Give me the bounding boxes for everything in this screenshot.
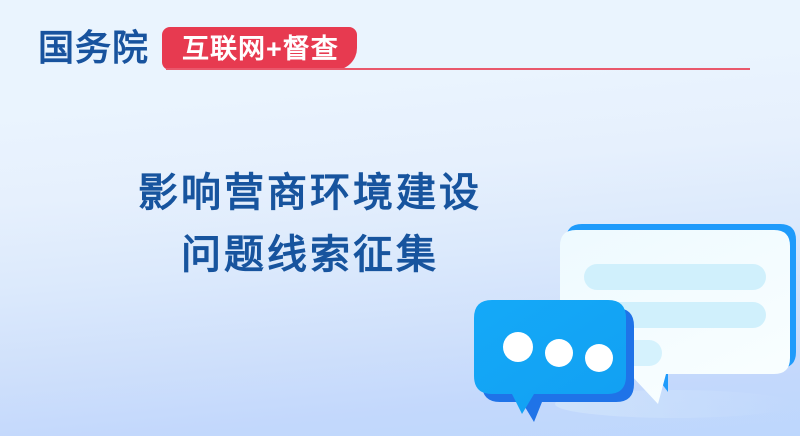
banner-header: 国务院 互联网+督查 bbox=[0, 0, 800, 90]
campaign-badge-label: 互联网+督查 bbox=[182, 34, 339, 64]
back-bubble-text-bar-1 bbox=[584, 264, 766, 290]
front-bubble-dot-2 bbox=[545, 339, 573, 367]
campaign-badge: 互联网+督查 bbox=[162, 27, 357, 70]
chat-bubbles-illustration bbox=[460, 208, 800, 436]
front-bubble-dot-1 bbox=[503, 332, 533, 362]
header-divider-rule bbox=[166, 68, 750, 70]
front-bubble-dot-3 bbox=[585, 344, 613, 372]
campaign-banner: 国务院 互联网+督查 影响营商环境建设 问题线索征集 bbox=[0, 0, 800, 436]
organization-name: 国务院 bbox=[38, 27, 149, 69]
